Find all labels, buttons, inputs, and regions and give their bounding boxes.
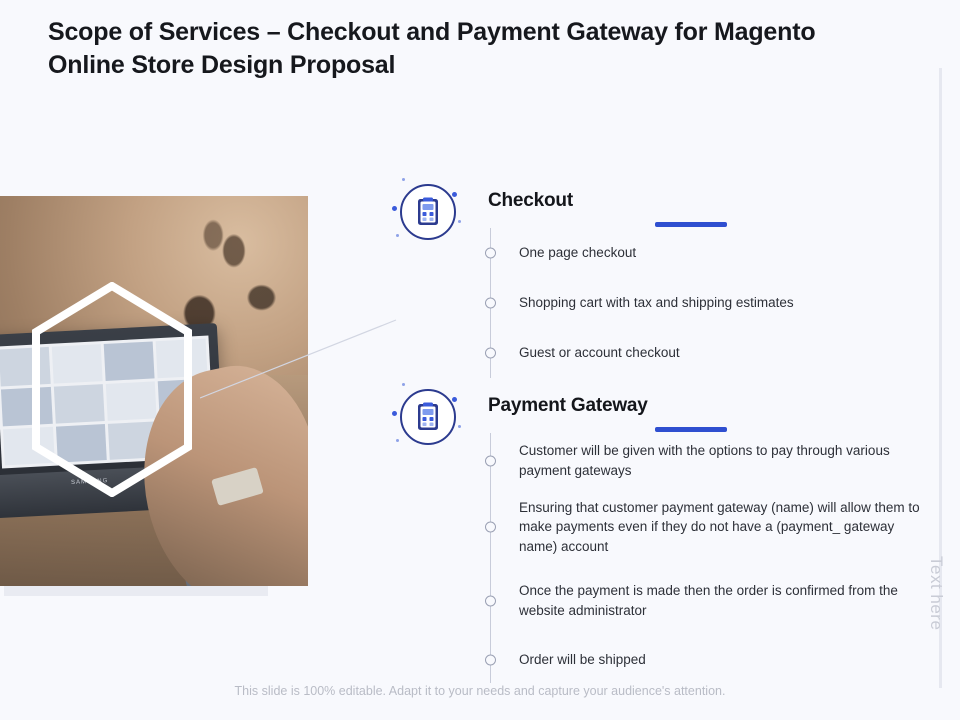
bullet-text: Once the payment is made then the order … bbox=[519, 581, 921, 620]
spark-dot bbox=[396, 439, 399, 442]
photo-composition: SAMSUNG bbox=[0, 196, 348, 586]
list-item: Customer will be given with the options … bbox=[491, 433, 921, 489]
list-item: Order will be shipped bbox=[491, 637, 921, 683]
checkout-bullet-list: One page checkout Shopping cart with tax… bbox=[490, 228, 921, 378]
list-item: Once the payment is made then the order … bbox=[491, 565, 921, 637]
badge-glyph bbox=[412, 196, 444, 228]
bullet-dot-icon bbox=[485, 655, 496, 666]
spark-dot bbox=[458, 425, 461, 428]
payment-gateway-bullet-list: Customer will be given with the options … bbox=[490, 433, 921, 683]
spark-dot bbox=[402, 383, 405, 386]
spark-dot bbox=[402, 178, 405, 181]
bullet-text: Shopping cart with tax and shipping esti… bbox=[519, 293, 794, 313]
bullet-text: Ensuring that customer payment gateway (… bbox=[519, 498, 921, 557]
spark-dot bbox=[392, 411, 397, 416]
list-item: Shopping cart with tax and shipping esti… bbox=[491, 278, 921, 328]
bullet-dot-icon bbox=[485, 456, 496, 467]
bullet-text: Guest or account checkout bbox=[519, 343, 680, 363]
spark-dot bbox=[392, 206, 397, 211]
section-underline bbox=[655, 427, 727, 432]
bullet-dot-icon bbox=[485, 348, 496, 359]
payment-gateway-icon bbox=[390, 381, 464, 455]
bullet-text: One page checkout bbox=[519, 243, 636, 263]
section-underline bbox=[655, 222, 727, 227]
spark-dot bbox=[458, 220, 461, 223]
vertical-text-label: Text here bbox=[926, 556, 946, 630]
bullet-dot-icon bbox=[485, 298, 496, 309]
spark-dot bbox=[452, 397, 457, 402]
bullet-dot-icon bbox=[485, 522, 496, 533]
bullet-text: Customer will be given with the options … bbox=[519, 441, 921, 480]
bullet-dot-icon bbox=[485, 596, 496, 607]
badge-glyph bbox=[412, 401, 444, 433]
list-item: Ensuring that customer payment gateway (… bbox=[491, 489, 921, 565]
footer-note: This slide is 100% editable. Adapt it to… bbox=[0, 684, 960, 698]
bullet-text: Order will be shipped bbox=[519, 650, 646, 670]
hexagon-frame bbox=[32, 282, 187, 492]
spark-dot bbox=[452, 192, 457, 197]
section-heading-checkout: Checkout bbox=[488, 190, 573, 212]
checkout-clipboard-icon bbox=[390, 176, 464, 250]
list-item: One page checkout bbox=[491, 228, 921, 278]
page-title: Scope of Services – Checkout and Payment… bbox=[48, 16, 848, 82]
list-item: Guest or account checkout bbox=[491, 328, 921, 378]
bullet-dot-icon bbox=[485, 248, 496, 259]
spark-dot bbox=[396, 234, 399, 237]
section-heading-payment-gateway: Payment Gateway bbox=[488, 395, 648, 417]
